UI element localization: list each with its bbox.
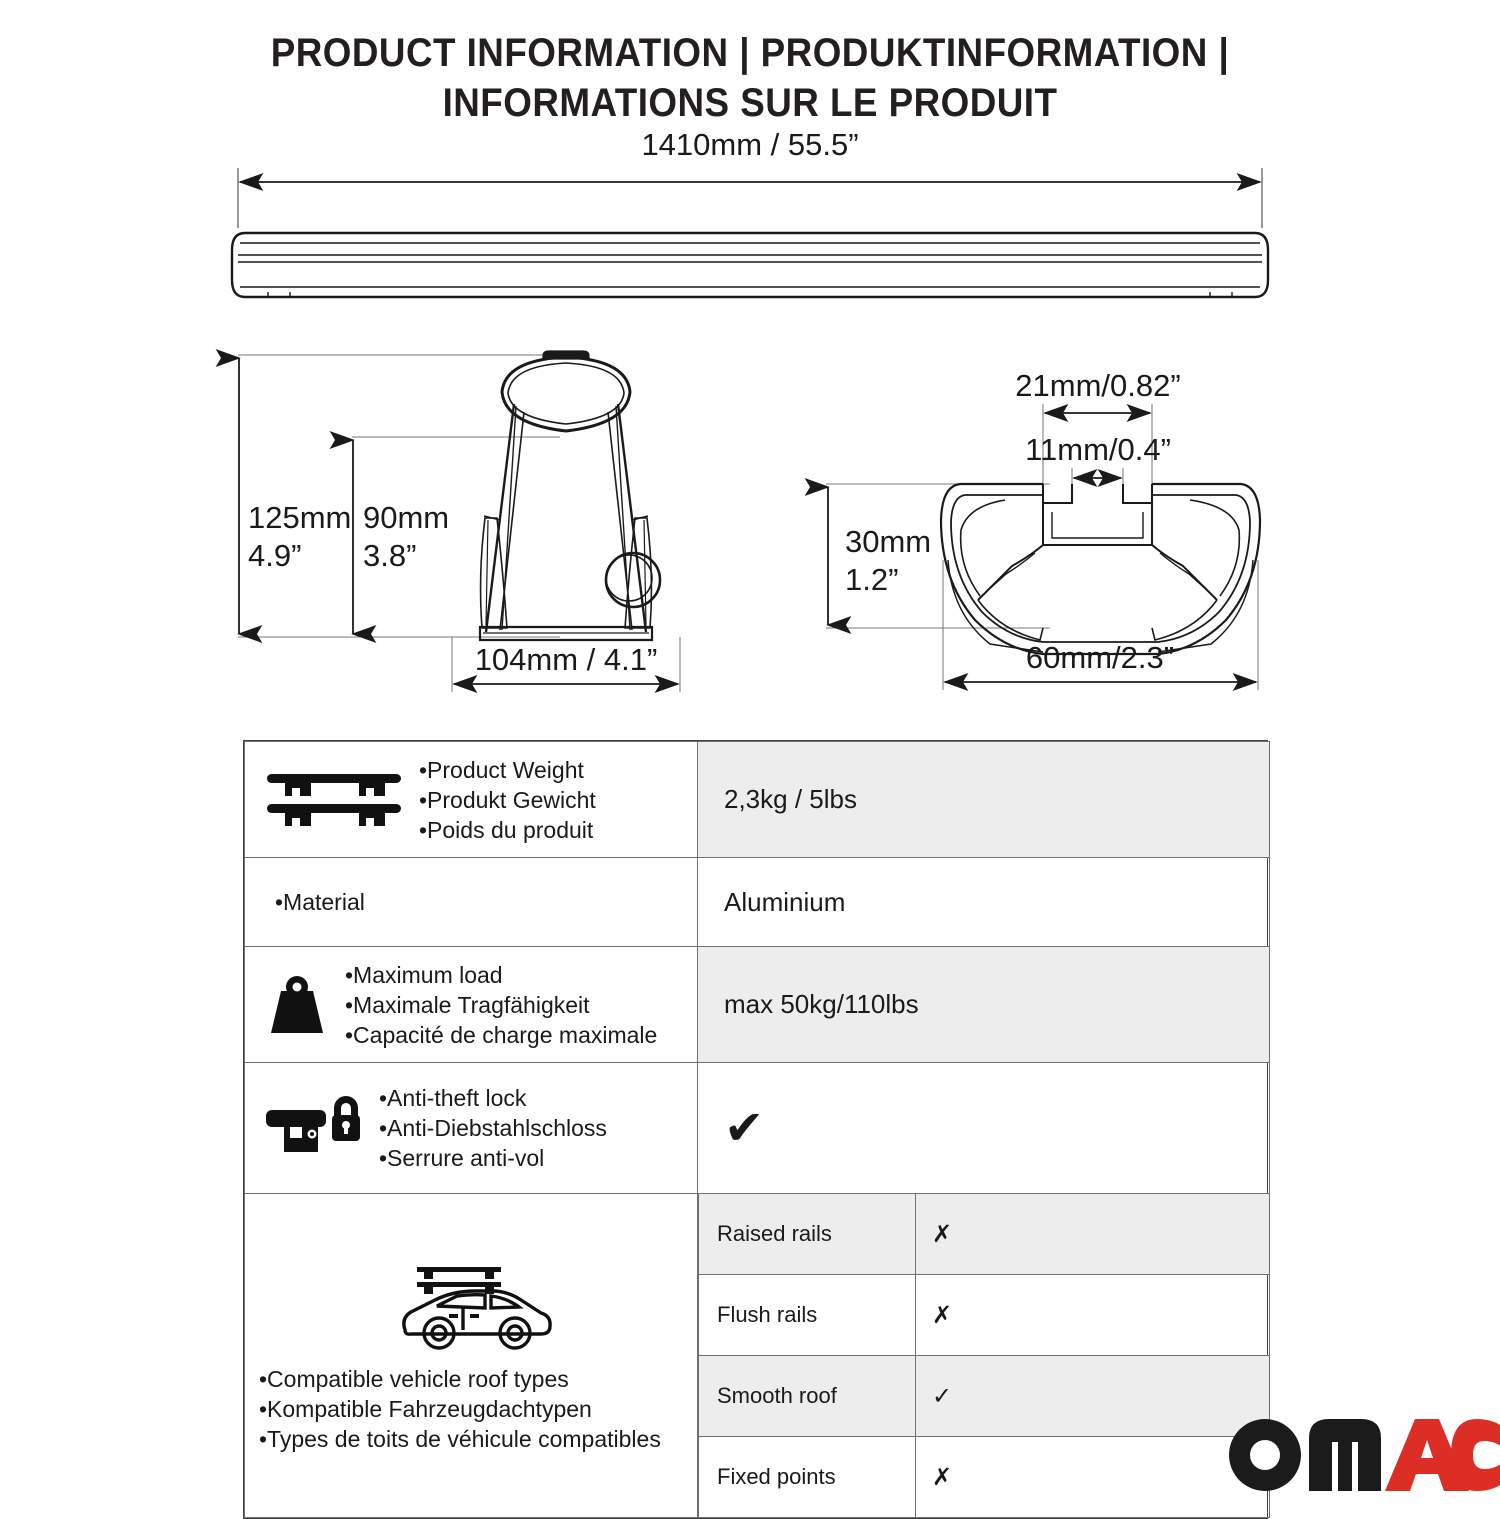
maximum-load-value: max 50kg/110lbs <box>698 989 1269 1020</box>
roof-type-row-raised-rails: Raised rails ✗ <box>699 1194 1270 1275</box>
logo-ac-red <box>1385 1419 1500 1491</box>
foot-inner-height-label-2: 3.8” <box>363 538 416 573</box>
anti-theft-check-mark: ✔ <box>698 1104 1269 1152</box>
roof-type-mark: ✗ <box>916 1437 1270 1518</box>
product-weight-value: 2,3kg / 5lbs <box>698 784 1269 815</box>
table-row-anti-theft-lock: •Anti-theft lock •Anti-Diebstahlschloss … <box>245 1063 1270 1194</box>
label-fr: •Capacité de charge maximale <box>345 1022 657 1048</box>
label-fr: •Serrure anti-vol <box>379 1145 544 1171</box>
table-row-material: •Material Aluminium <box>245 858 1270 947</box>
product-spec-table: •Product Weight •Produkt Gewicht •Poids … <box>243 740 1268 1519</box>
roof-type-mark: ✓ <box>916 1356 1270 1437</box>
roof-type-name: Flush rails <box>699 1275 916 1356</box>
lock-key-icon <box>259 1094 369 1162</box>
label-en: •Compatible vehicle roof types <box>259 1366 569 1392</box>
bar-length-dimension <box>238 168 1262 228</box>
roof-type-name: Fixed points <box>699 1437 916 1518</box>
label-fr: •Types de toits de véhicule compatibles <box>259 1426 661 1452</box>
profile-height-label-2: 1.2” <box>845 562 898 597</box>
omac-logo <box>1225 1418 1500 1492</box>
roof-bars-icon <box>259 769 409 831</box>
car-with-roof-rack-icon <box>259 1258 691 1354</box>
roof-type-name: Smooth roof <box>699 1356 916 1437</box>
anti-theft-labels: •Anti-theft lock •Anti-Diebstahlschloss … <box>379 1083 607 1173</box>
profile-width-label: 60mm/2.3” <box>1026 640 1174 675</box>
logo-om-black <box>1229 1419 1381 1491</box>
material-value: Aluminium <box>698 887 1269 918</box>
label-en: •Maximum load <box>345 962 503 988</box>
cell-product-weight-value: 2,3kg / 5lbs <box>698 742 1270 858</box>
roof-type-row-fixed-points: Fixed points ✗ <box>699 1437 1270 1518</box>
table-row-product-weight: •Product Weight •Produkt Gewicht •Poids … <box>245 742 1270 858</box>
roof-bar-top-view <box>232 233 1268 297</box>
table-row-roof-types: •Compatible vehicle roof types •Kompatib… <box>245 1194 1270 1518</box>
cell-roof-types-label: •Compatible vehicle roof types •Kompatib… <box>245 1194 698 1518</box>
profile-groove-inner-label: 11mm/0.4” <box>1025 432 1171 467</box>
foot-width-label: 104mm / 4.1” <box>475 642 658 677</box>
roof-type-row-smooth-roof: Smooth roof ✓ <box>699 1356 1270 1437</box>
table-row-maximum-load: •Maximum load •Maximale Tragfähigkeit •C… <box>245 947 1270 1063</box>
label-de: •Anti-Diebstahlschloss <box>379 1115 607 1141</box>
roof-type-row-flush-rails: Flush rails ✗ <box>699 1275 1270 1356</box>
label-de: •Maximale Tragfähigkeit <box>345 992 590 1018</box>
product-weight-labels: •Product Weight •Produkt Gewicht •Poids … <box>419 755 596 845</box>
cell-maximum-load-label: •Maximum load •Maximale Tragfähigkeit •C… <box>245 947 698 1063</box>
label-de: •Kompatible Fahrzeugdachtypen <box>259 1396 592 1422</box>
roof-type-mark: ✗ <box>916 1194 1270 1275</box>
label-en: •Product Weight <box>419 757 584 783</box>
roof-type-subtable: Raised rails ✗ Flush rails ✗ Smooth roof… <box>698 1194 1269 1517</box>
profile-height-label-1: 30mm <box>845 524 931 559</box>
label-de: •Produkt Gewicht <box>419 787 596 813</box>
cell-anti-theft-label: •Anti-theft lock •Anti-Diebstahlschloss … <box>245 1063 698 1194</box>
roof-type-mark: ✗ <box>916 1275 1270 1356</box>
profile-groove-outer-label: 21mm/0.82” <box>1015 368 1180 403</box>
cell-material-label: •Material <box>245 858 698 947</box>
roof-rack-foot-front-view <box>480 351 660 640</box>
foot-total-height-label-1: 125mm <box>248 500 351 535</box>
label-en: •Anti-theft lock <box>379 1085 526 1111</box>
bar-length-label: 1410mm / 55.5” <box>641 127 858 162</box>
cell-material-value: Aluminium <box>698 858 1270 947</box>
foot-total-height-label-2: 4.9” <box>248 538 301 573</box>
cell-maximum-load-value: max 50kg/110lbs <box>698 947 1270 1063</box>
foot-inner-height-label-1: 90mm <box>363 500 449 535</box>
label-fr: •Poids du produit <box>419 817 593 843</box>
cell-roof-types-matrix: Raised rails ✗ Flush rails ✗ Smooth roof… <box>698 1194 1270 1518</box>
roof-types-labels: •Compatible vehicle roof types •Kompatib… <box>259 1364 691 1454</box>
maximum-load-labels: •Maximum load •Maximale Tragfähigkeit •C… <box>345 960 657 1050</box>
technical-drawings: 1410mm / 55.5” 125mm 4.9” 90mm 3.8” 104m… <box>0 0 1500 740</box>
weight-icon <box>259 973 335 1037</box>
material-label: •Material <box>275 887 365 917</box>
cell-product-weight-label: •Product Weight •Produkt Gewicht •Poids … <box>245 742 698 858</box>
cell-anti-theft-value: ✔ <box>698 1063 1270 1194</box>
roof-type-name: Raised rails <box>699 1194 916 1275</box>
